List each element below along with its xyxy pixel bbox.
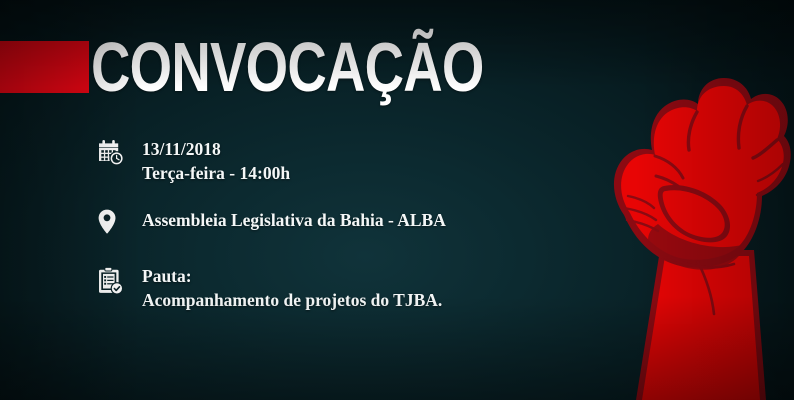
page-title: CONVOCAÇÃO: [91, 38, 484, 97]
date-text: 13/11/2018 Terça-feira - 14:00h: [142, 138, 290, 185]
raised-fist-illustration: [594, 0, 794, 400]
detail-row-agenda: Pauta: Acompanhamento de projetos do TJB…: [98, 265, 618, 312]
map-pin-icon: [98, 207, 130, 243]
agenda-text: Pauta: Acompanhamento de projetos do TJB…: [142, 265, 442, 312]
poster-title-row: CONVOCAÇÃO: [0, 36, 594, 98]
detail-row-date: 13/11/2018 Terça-feira - 14:00h: [98, 138, 618, 185]
location-text: Assembleia Legislativa da Bahia - ALBA: [142, 207, 446, 233]
clipboard-check-icon: [98, 265, 130, 301]
agenda-label: Pauta:: [142, 265, 442, 289]
weekday-time-value: Terça-feira - 14:00h: [142, 162, 290, 186]
detail-row-location: Assembleia Legislativa da Bahia - ALBA: [98, 207, 618, 243]
calendar-clock-icon: [98, 138, 130, 174]
title-accent-block: [0, 41, 89, 93]
venue-value: Assembleia Legislativa da Bahia - ALBA: [142, 209, 446, 233]
convocation-poster: CONVOCAÇÃO: [0, 0, 794, 400]
poster-details: 13/11/2018 Terça-feira - 14:00h Assemble…: [98, 138, 618, 313]
agenda-description: Acompanhamento de projetos do TJBA.: [142, 289, 442, 313]
date-value: 13/11/2018: [142, 138, 290, 162]
